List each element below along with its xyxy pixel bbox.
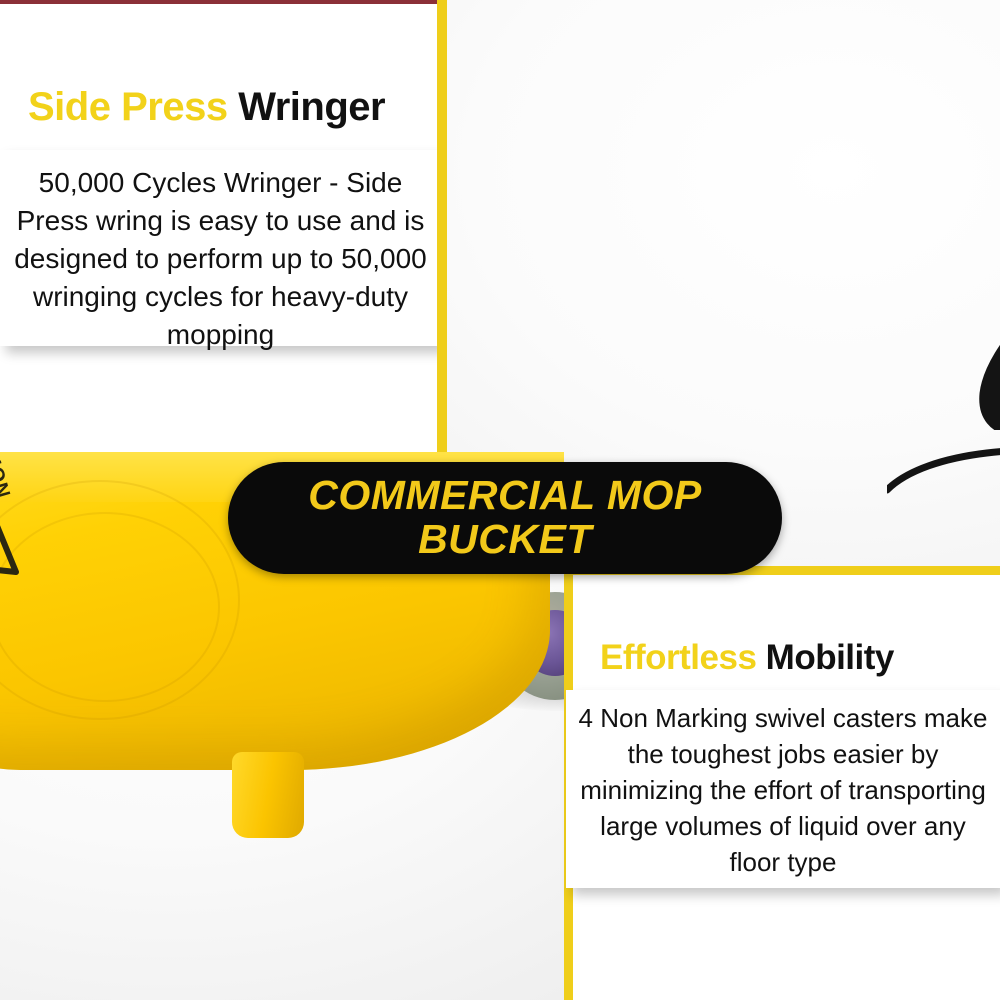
vertical-divider-top: [437, 0, 447, 452]
embossed-caution-label: TION ADO: [0, 458, 100, 578]
top-maroon-rule: [0, 0, 437, 4]
caster-mounting-stem: [232, 752, 304, 838]
wringer-description-text: 50,000 Cycles Wringer - Side Press wring…: [14, 167, 427, 350]
product-title-badge: COMMERCIAL MOP BUCKET: [228, 462, 782, 574]
wringer-description-card: 50,000 Cycles Wringer - Side Press wring…: [0, 150, 441, 346]
wringer-heading-accent: Side Press: [28, 85, 228, 129]
mobility-heading-accent: Effortless: [600, 638, 756, 677]
mobility-heading: Effortless Mobility: [600, 637, 894, 679]
bucket-wire-handle: [887, 432, 1000, 502]
mobility-heading-rest: Mobility: [756, 638, 893, 677]
mobility-description-card: 4 Non Marking swivel casters make the to…: [566, 690, 1000, 888]
product-infographic: Side Press Wringer 50,000 Cycles Wringer…: [0, 0, 1000, 1000]
wringer-heading: Side Press Wringer: [28, 83, 385, 131]
embossed-triangle-icon: [0, 464, 26, 582]
wringer-heading-rest: Wringer: [228, 85, 386, 129]
wringer-press-handle: [902, 10, 1000, 430]
product-title-text: COMMERCIAL MOP BUCKET: [308, 473, 701, 561]
mobility-description-text: 4 Non Marking swivel casters make the to…: [579, 703, 988, 877]
